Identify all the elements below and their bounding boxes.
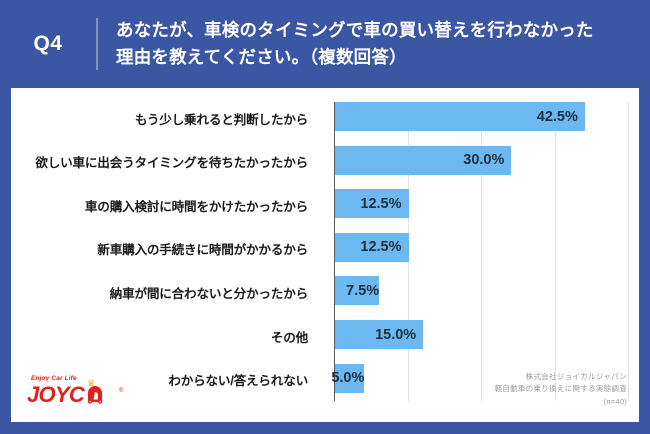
category-label: 欲しい車に出会うタイミングを待ちたかったから bbox=[0, 152, 308, 171]
question-header: Q4 あなたが、車検のタイミングで車の買い替えを行わなかった 理由を教えてくださ… bbox=[0, 0, 650, 88]
bar-value-label: 12.5% bbox=[360, 196, 408, 212]
question-number: Q4 bbox=[0, 32, 96, 56]
question-title-line-2: 理由を教えてください。（複数回答） bbox=[116, 44, 594, 71]
car-icon bbox=[85, 385, 105, 404]
question-title-line-1: あなたが、車検のタイミングで車の買い替えを行わなかった bbox=[116, 17, 594, 44]
bar[interactable]: 15.0% bbox=[335, 320, 423, 349]
bar-value-label: 15.0% bbox=[375, 327, 423, 343]
credit-line-sample-size: (n=40) bbox=[495, 396, 628, 408]
credit-line-company: 株式会社ジョイカルジャパン bbox=[495, 371, 628, 383]
bar-value-label: 42.5% bbox=[537, 109, 585, 125]
bar[interactable]: 7.5% bbox=[335, 276, 379, 305]
credit-line-survey: 軽自動車の乗り換えに関する実態調査 bbox=[495, 383, 628, 395]
registered-mark: ® bbox=[119, 388, 123, 394]
category-label: もう少し乗れると判断したから bbox=[0, 109, 308, 128]
category-label: その他 bbox=[0, 327, 308, 346]
bar-value-label: 7.5% bbox=[343, 283, 379, 299]
bar-row[interactable]: 42.5% bbox=[335, 102, 585, 131]
bar[interactable]: 12.5% bbox=[335, 189, 409, 218]
bar-row[interactable]: 12.5% bbox=[335, 233, 409, 262]
question-title: あなたが、車検のタイミングで車の買い替えを行わなかった 理由を教えてください。（… bbox=[116, 17, 614, 70]
bar-row[interactable]: 5.0% bbox=[335, 364, 364, 393]
gridline-50 bbox=[628, 102, 629, 401]
bar-value-label: 30.0% bbox=[463, 152, 511, 168]
bar-value-label: 12.5% bbox=[360, 239, 408, 255]
category-label: 新車購入の手続きに時間がかかるから bbox=[0, 239, 308, 258]
category-label: 納車が間に合わないと分かったから bbox=[0, 283, 308, 302]
bar[interactable]: 42.5% bbox=[335, 102, 585, 131]
bar[interactable]: 30.0% bbox=[335, 146, 511, 175]
bar-row[interactable]: 7.5% bbox=[335, 276, 379, 305]
chart-panel: もう少し乗れると判断したから42.5%欲しい車に出会うタイミングを待ちたかったか… bbox=[11, 88, 639, 422]
bar[interactable]: 12.5% bbox=[335, 233, 409, 262]
category-label: 車の購入検討に時間をかけたかったから bbox=[0, 196, 308, 215]
gridline-37.5 bbox=[555, 102, 556, 401]
bar-row[interactable]: 30.0% bbox=[335, 146, 511, 175]
bar-value-label: 5.0% bbox=[328, 370, 364, 386]
survey-result-slide: Q4 あなたが、車検のタイミングで車の買い替えを行わなかった 理由を教えてくださ… bbox=[0, 0, 650, 434]
bar-row[interactable]: 12.5% bbox=[335, 189, 409, 218]
survey-credit: 株式会社ジョイカルジャパン 軽自動車の乗り換えに関する実態調査 (n=40) bbox=[495, 371, 628, 408]
header-divider bbox=[96, 18, 98, 70]
bar[interactable]: 5.0% bbox=[335, 364, 364, 393]
logo-tagline: Enjoy Car Life bbox=[31, 375, 77, 382]
joycal-logo: Enjoy Car Life JOYC L ♛ ® bbox=[27, 375, 131, 409]
bar-row[interactable]: 15.0% bbox=[335, 320, 423, 349]
